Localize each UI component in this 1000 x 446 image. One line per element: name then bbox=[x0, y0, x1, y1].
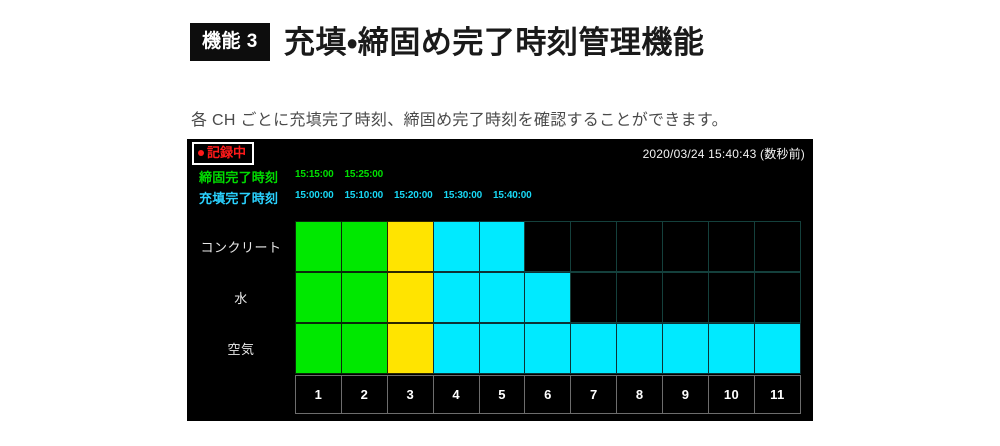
grid-cell[interactable] bbox=[479, 323, 526, 374]
channel-number-cell[interactable]: 9 bbox=[662, 375, 709, 414]
page-root: 機能 3 充填・締固め完了時刻管理機能 各 CH ごとに充填完了時刻、締固め完了… bbox=[0, 0, 1000, 446]
grid-cell[interactable] bbox=[479, 221, 526, 272]
grid-cell[interactable] bbox=[662, 221, 709, 272]
grid-cell[interactable] bbox=[387, 221, 434, 272]
grid-cell[interactable] bbox=[341, 272, 388, 323]
grid-cell[interactable] bbox=[295, 221, 342, 272]
grid-cell[interactable] bbox=[479, 272, 526, 323]
status-grid: コンクリート 水 空気 1234567891011 bbox=[187, 221, 813, 419]
legend-row-compaction: 締固完了時刻 15:15:00 15:25:00 bbox=[187, 165, 813, 186]
panel-timestamp: 2020/03/24 15:40:43 (数秒前) bbox=[643, 145, 805, 162]
channel-number-cell[interactable]: 3 bbox=[387, 375, 434, 414]
recording-status-badge: 記録中 bbox=[192, 142, 254, 165]
legend-time: 15:15:00 bbox=[295, 169, 345, 180]
record-dot-icon bbox=[198, 150, 204, 156]
channel-number-cell[interactable]: 7 bbox=[570, 375, 617, 414]
grid-cell[interactable] bbox=[708, 272, 755, 323]
channel-number-cell[interactable]: 8 bbox=[616, 375, 663, 414]
grid-cell[interactable] bbox=[708, 221, 755, 272]
grid-cell[interactable] bbox=[295, 272, 342, 323]
channel-number-cell[interactable]: 6 bbox=[524, 375, 571, 414]
grid-cells-concrete bbox=[295, 221, 813, 272]
legend-time: 15:20:00 bbox=[394, 190, 444, 201]
channel-number-cell[interactable]: 10 bbox=[708, 375, 755, 414]
grid-cell[interactable] bbox=[616, 221, 663, 272]
legend-time: 15:25:00 bbox=[345, 169, 395, 180]
grid-cell[interactable] bbox=[616, 323, 663, 374]
grid-cell[interactable] bbox=[387, 272, 434, 323]
grid-cell[interactable] bbox=[662, 323, 709, 374]
channel-number-cell[interactable]: 11 bbox=[754, 375, 801, 414]
grid-cell[interactable] bbox=[662, 272, 709, 323]
grid-cell[interactable] bbox=[295, 323, 342, 374]
grid-cell[interactable] bbox=[754, 272, 801, 323]
page-subtitle: 各 CH ごとに充填完了時刻、締固め完了時刻を確認することができます。 bbox=[191, 106, 728, 130]
grid-row-air: 空気 bbox=[187, 323, 813, 374]
grid-cell[interactable] bbox=[754, 221, 801, 272]
legend-row-filling: 充填完了時刻 15:00:00 15:10:00 15:20:00 15:30:… bbox=[187, 186, 813, 207]
grid-cell[interactable] bbox=[433, 272, 480, 323]
row-label-air: 空気 bbox=[187, 323, 295, 374]
legend-time: 15:00:00 bbox=[295, 190, 345, 201]
grid-cell[interactable] bbox=[616, 272, 663, 323]
page-title: 充填・締固め完了時刻管理機能 bbox=[284, 27, 705, 58]
row-label-water: 水 bbox=[187, 272, 295, 323]
channel-number-row: 1234567891011 bbox=[187, 375, 813, 414]
grid-cell[interactable] bbox=[570, 221, 617, 272]
channel-number-cell[interactable]: 2 bbox=[341, 375, 388, 414]
grid-row-water: 水 bbox=[187, 272, 813, 323]
legend-times-compaction: 15:15:00 15:25:00 bbox=[295, 169, 394, 180]
panel-topbar: 記録中 2020/03/24 15:40:43 (数秒前) bbox=[187, 139, 813, 165]
grid-cell[interactable] bbox=[754, 323, 801, 374]
grid-cell[interactable] bbox=[387, 323, 434, 374]
grid-cell[interactable] bbox=[570, 323, 617, 374]
legend-time: 15:30:00 bbox=[444, 190, 494, 201]
grid-cell[interactable] bbox=[570, 272, 617, 323]
grid-cells-air bbox=[295, 323, 813, 374]
grid-cell[interactable] bbox=[524, 272, 571, 323]
channel-number-cells: 1234567891011 bbox=[295, 375, 813, 414]
feature-number-badge: 機能 3 bbox=[190, 23, 270, 61]
row-label-concrete: コンクリート bbox=[187, 221, 295, 272]
channel-number-cell[interactable]: 5 bbox=[479, 375, 526, 414]
grid-cell[interactable] bbox=[708, 323, 755, 374]
recording-status-label: 記録中 bbox=[207, 145, 246, 161]
grid-cell[interactable] bbox=[341, 221, 388, 272]
page-heading: 機能 3 充填・締固め完了時刻管理機能 bbox=[190, 18, 704, 66]
grid-row-concrete: コンクリート bbox=[187, 221, 813, 272]
grid-cell[interactable] bbox=[433, 323, 480, 374]
channel-number-cell[interactable]: 1 bbox=[295, 375, 342, 414]
grid-cell[interactable] bbox=[433, 221, 480, 272]
channel-number-cell[interactable]: 4 bbox=[433, 375, 480, 414]
grid-cell[interactable] bbox=[524, 221, 571, 272]
legend-label-compaction: 締固完了時刻 bbox=[199, 167, 295, 186]
grid-cell[interactable] bbox=[524, 323, 571, 374]
legend-times-filling: 15:00:00 15:10:00 15:20:00 15:30:00 15:4… bbox=[295, 190, 543, 201]
legend-time: 15:40:00 bbox=[493, 190, 543, 201]
grid-cells-water bbox=[295, 272, 813, 323]
grid-cell[interactable] bbox=[341, 323, 388, 374]
monitor-panel: 記録中 2020/03/24 15:40:43 (数秒前) 締固完了時刻 15:… bbox=[187, 139, 813, 421]
legend-time: 15:10:00 bbox=[345, 190, 395, 201]
legend-label-filling: 充填完了時刻 bbox=[199, 188, 295, 207]
channel-row-spacer bbox=[187, 375, 295, 414]
